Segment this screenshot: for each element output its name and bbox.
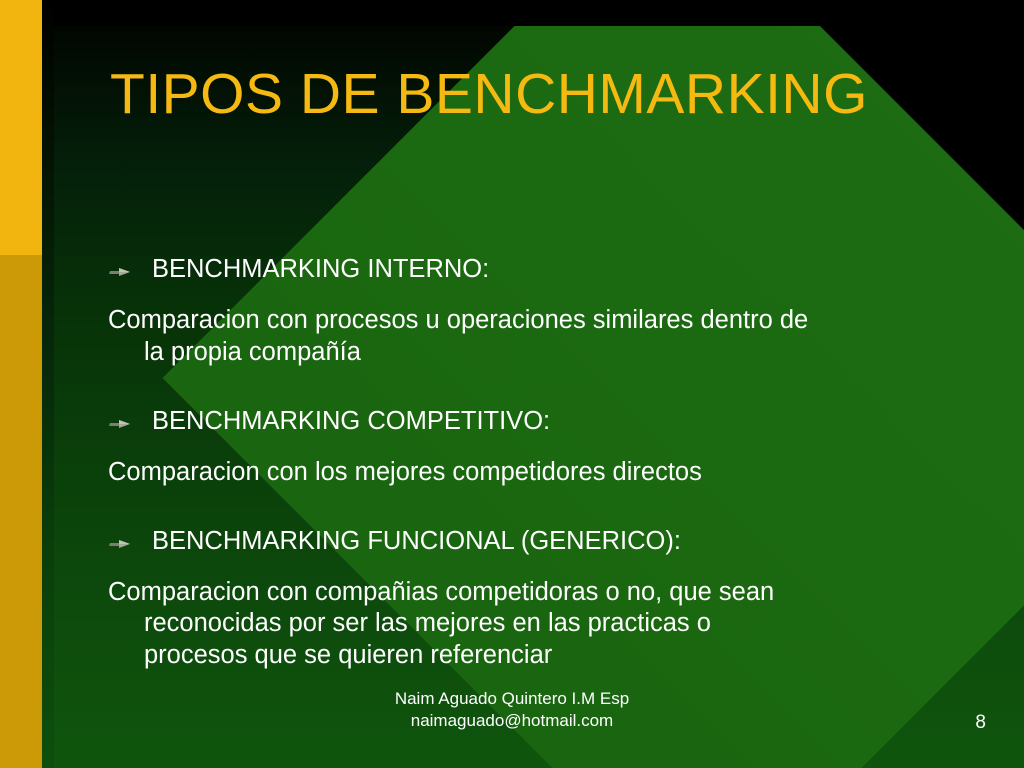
body-paragraph: Comparacion con procesos u operaciones s…	[108, 305, 958, 368]
bullet-item: BENCHMARKING INTERNO:	[108, 254, 958, 285]
slide-number: 8	[975, 712, 986, 734]
paragraph-line: Comparacion con compañias competidoras o…	[144, 577, 958, 609]
slide-body: BENCHMARKING INTERNO: Comparacion con pr…	[108, 254, 958, 691]
slide-footer: Naim Aguado Quintero I.M Esp naimaguado@…	[0, 688, 1024, 732]
pennant-arrow-icon	[108, 260, 134, 282]
dark-top-band	[0, 0, 1024, 26]
body-paragraph: Comparacion con compañias competidoras o…	[108, 577, 958, 672]
block-spacer	[108, 509, 958, 526]
paragraph-line: Comparacion con los mejores competidores…	[144, 457, 958, 489]
pennant-arrow-icon	[108, 412, 134, 434]
content-block: BENCHMARKING INTERNO: Comparacion con pr…	[108, 254, 958, 368]
paragraph-line: procesos que se quieren referenciar	[144, 640, 958, 672]
footer-email: naimaguado@hotmail.com	[0, 710, 1024, 732]
paragraph-line: la propia compañía	[144, 337, 958, 369]
footer-author: Naim Aguado Quintero I.M Esp	[0, 688, 1024, 710]
bullet-heading: BENCHMARKING FUNCIONAL (GENERICO):	[152, 526, 958, 557]
paragraph-line: Comparacion con procesos u operaciones s…	[144, 305, 958, 337]
slide-title: TIPOS DE BENCHMARKING	[110, 62, 970, 126]
presentation-slide: TIPOS DE BENCHMARKING BENCHMARKING INTER…	[0, 0, 1024, 768]
paragraph-line: reconocidas por ser las mejores en las p…	[144, 608, 958, 640]
left-accent-stripe-top	[0, 0, 42, 255]
bullet-heading: BENCHMARKING COMPETITIVO:	[152, 406, 958, 437]
content-block: BENCHMARKING FUNCIONAL (GENERICO): Compa…	[108, 526, 958, 672]
content-block: BENCHMARKING COMPETITIVO: Comparacion co…	[108, 406, 958, 489]
bullet-heading: BENCHMARKING INTERNO:	[152, 254, 958, 285]
pennant-arrow-icon	[108, 532, 134, 554]
bullet-item: BENCHMARKING COMPETITIVO:	[108, 406, 958, 437]
body-paragraph: Comparacion con los mejores competidores…	[108, 457, 958, 489]
block-spacer	[108, 388, 958, 406]
bullet-item: BENCHMARKING FUNCIONAL (GENERICO):	[108, 526, 958, 557]
left-gutter	[42, 0, 54, 768]
